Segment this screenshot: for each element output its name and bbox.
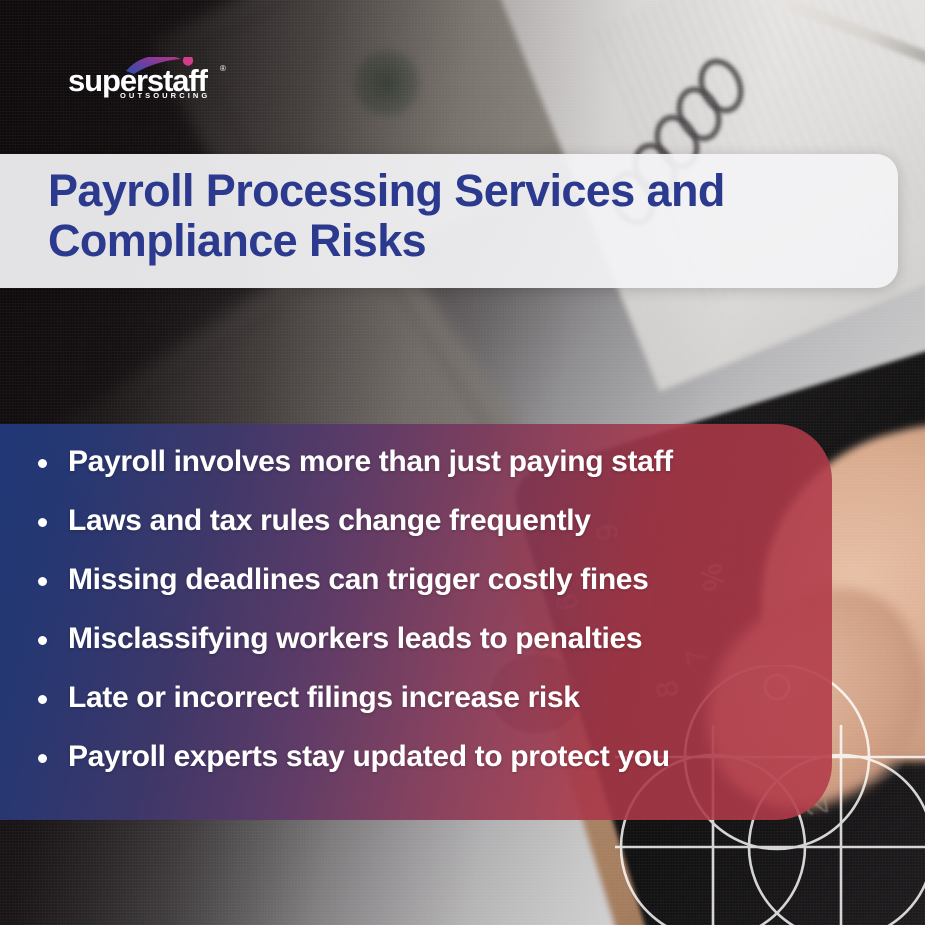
bullet-panel: Payroll involves more than just paying s… [0,424,832,820]
list-item: Laws and tax rules change frequently [68,491,808,550]
list-item: Payroll experts stay updated to protect … [68,727,808,786]
list-item: Missing deadlines can trigger costly fin… [68,550,808,609]
list-item: Misclassifying workers leads to penaltie… [68,609,808,668]
superstaff-logo[interactable]: superstaff ® OUTSOURCING [68,57,243,102]
social-graphic-canvas: // + – 3 % 8 5 9 6 4 7 2 [0,0,925,925]
list-item: Late or incorrect filings increase risk [68,668,808,727]
list-item: Payroll involves more than just paying s… [68,432,808,491]
logo-tagline: OUTSOURCING [120,91,210,100]
bullet-list: Payroll involves more than just paying s… [68,432,808,786]
logo-registered-mark: ® [220,64,226,73]
page-title: Payroll Processing Services and Complian… [48,166,838,267]
title-card: Payroll Processing Services and Complian… [0,154,898,288]
